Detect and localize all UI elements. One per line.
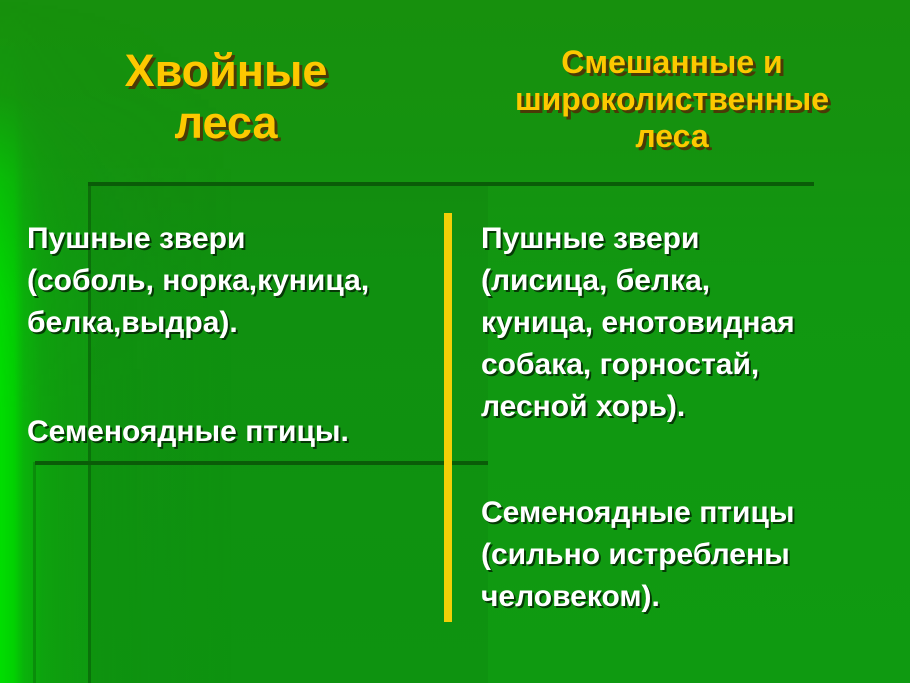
divider-horizontal-top (88, 182, 814, 186)
right-column-paragraph-fur-animals: Пушные звери (лисица, белка, куница, ено… (481, 218, 891, 428)
right-column-title: Смешанные и широколиственные леса (452, 44, 892, 155)
slide-canvas: Хвойные леса Смешанные и широколиственны… (0, 0, 910, 683)
background-edge-line-a (33, 462, 36, 683)
divider-horizontal-middle (35, 461, 488, 465)
right-column-paragraph-seed-eating-birds: Семеноядные птицы (сильно истреблены чел… (481, 492, 891, 618)
left-column-paragraph-seed-eating-birds: Семеноядные птицы. (27, 411, 447, 453)
left-column-paragraph-fur-animals: Пушные звери (соболь, норка,куница, белк… (27, 218, 447, 344)
left-column-title: Хвойные леса (36, 45, 416, 149)
